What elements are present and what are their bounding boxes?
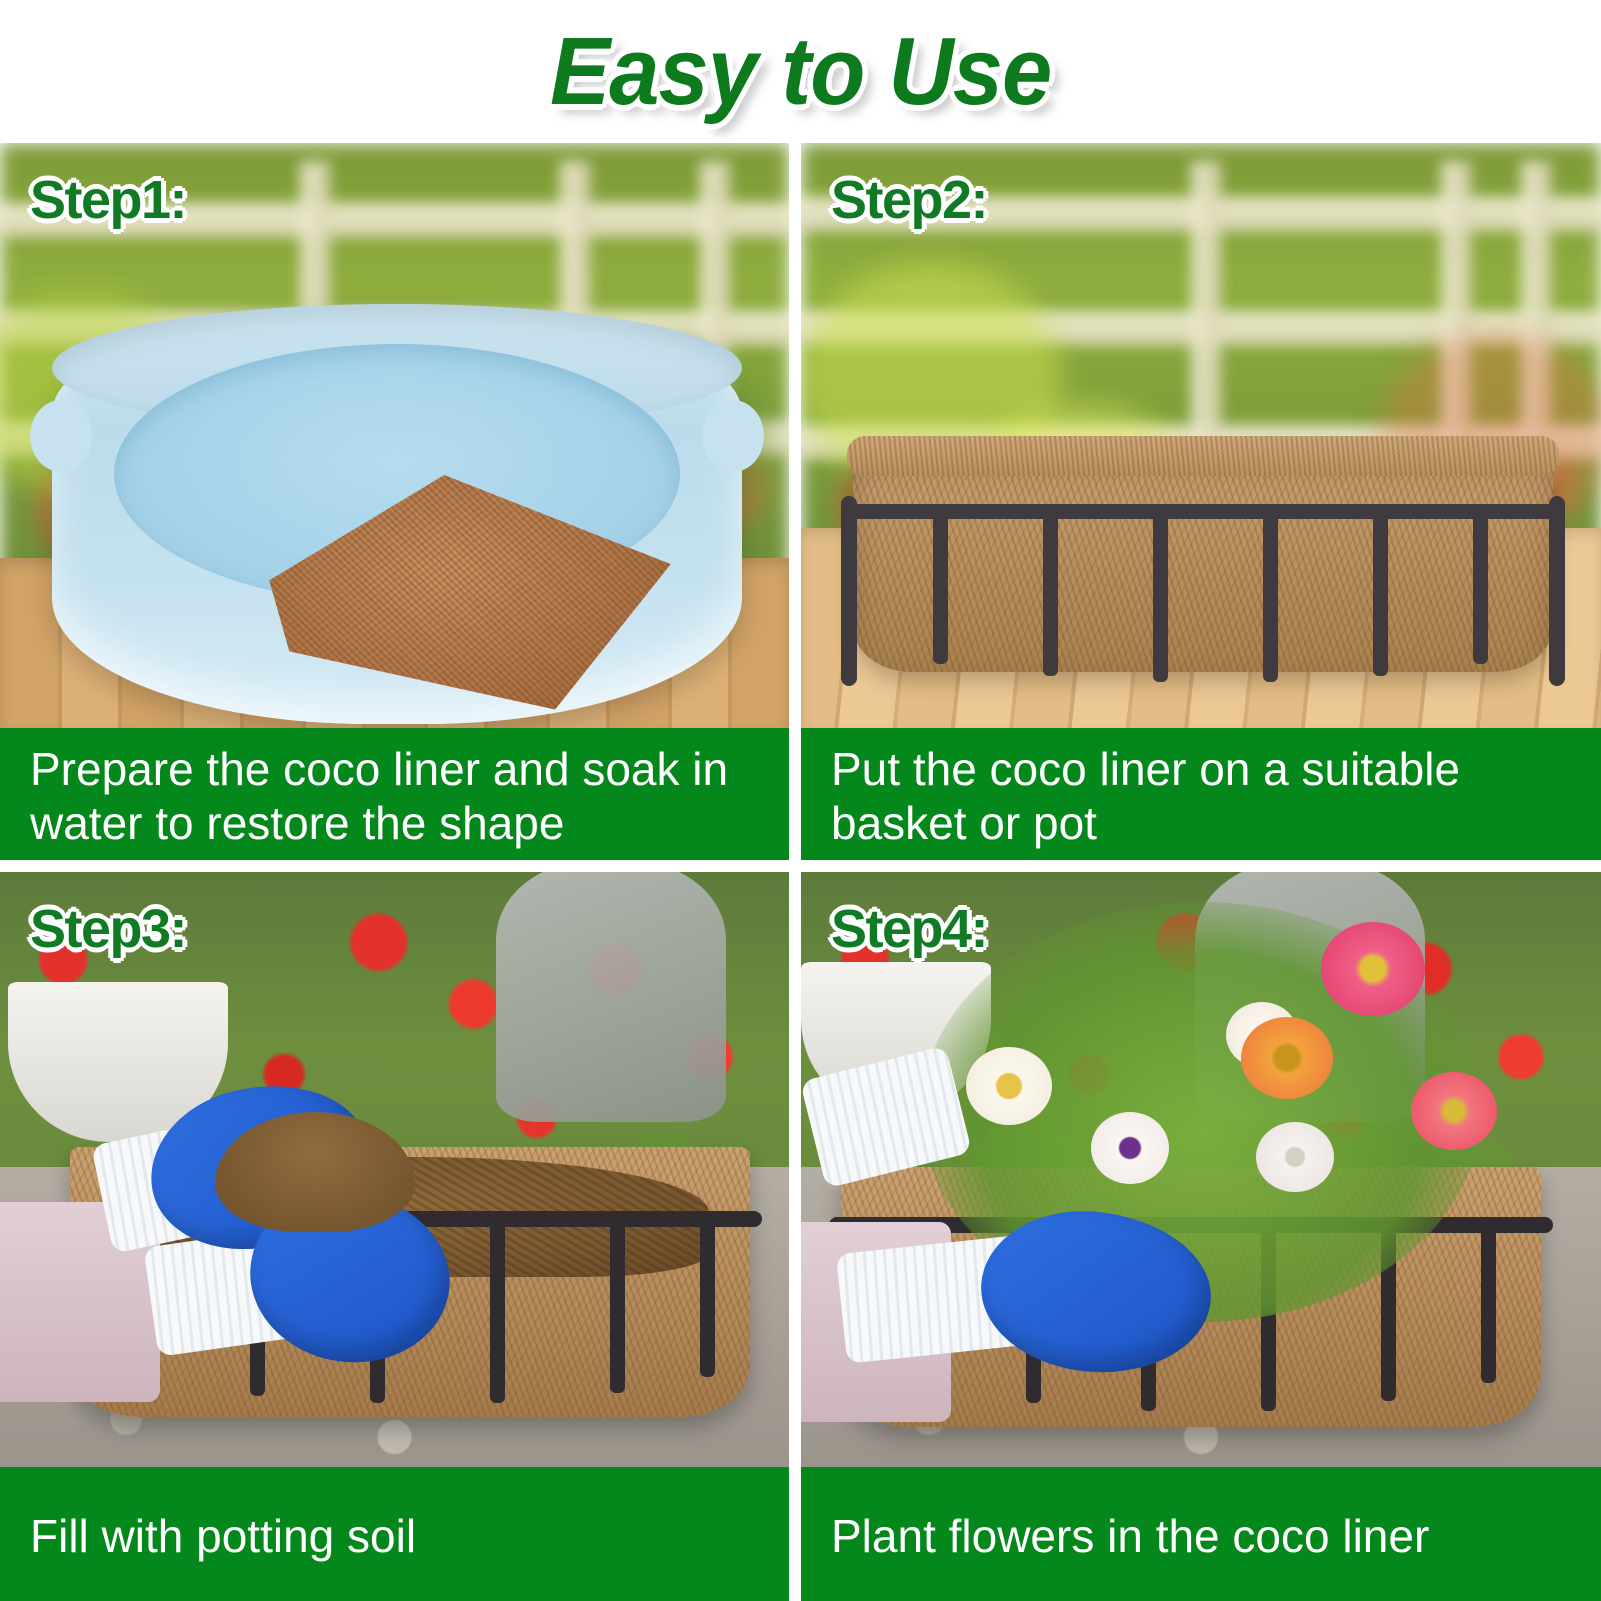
blue-basin: [52, 304, 742, 724]
title-bar: Easy to Use: [0, 0, 1601, 143]
frame-rib: [1481, 1217, 1496, 1383]
petunia-pink: [1321, 922, 1425, 1016]
step-4-photo: Step4:: [801, 872, 1601, 1467]
petunia-white: [1091, 1112, 1169, 1184]
step-2-photo: Step2:: [801, 143, 1601, 728]
step-3-panel: Step3: Fill with potting soil: [0, 872, 789, 1601]
metal-trough-basket: [853, 452, 1553, 672]
frame-side-right: [1549, 496, 1565, 686]
step-3-label: Step3:: [30, 898, 186, 960]
frame-side-left: [841, 496, 857, 686]
step-4-caption: Plant flowers in the coco liner: [801, 1467, 1601, 1601]
stone-ornament: [496, 872, 726, 1122]
page-title: Easy to Use: [550, 17, 1051, 127]
frame-rib: [933, 504, 948, 664]
frame-top-bar: [843, 504, 1563, 519]
step-3-photo: Step3:: [0, 872, 789, 1467]
frame-rib: [1043, 504, 1058, 676]
step-1-panel: Step1: Prepare the coco liner and soak i…: [0, 143, 789, 860]
basin-handle: [30, 400, 92, 472]
petunia-orange: [1241, 1017, 1333, 1099]
petunia-white: [966, 1047, 1052, 1125]
liner-rim: [847, 436, 1559, 476]
step-2-label: Step2:: [831, 169, 987, 231]
step-2-caption: Put the coco liner on a suitable basket …: [801, 728, 1601, 860]
frame-rib: [490, 1211, 505, 1403]
basin-handle: [702, 400, 764, 472]
step-1-photo: Step1:: [0, 143, 789, 728]
frame-rib: [1473, 504, 1488, 664]
easy-to-use-infographic: Easy to Use: [0, 0, 1601, 1601]
frame-rib: [610, 1211, 625, 1393]
frame-rib: [1373, 504, 1388, 676]
step-1-label: Step1:: [30, 169, 186, 231]
step-2-panel: Step2: Put the coco liner on a suitable …: [801, 143, 1601, 860]
frame-rib: [1153, 504, 1168, 682]
step-4-label: Step4:: [831, 898, 987, 960]
steps-grid: Step1: Prepare the coco liner and soak i…: [0, 143, 1601, 1601]
frame-rib: [700, 1211, 715, 1377]
frame-rib: [1263, 504, 1278, 682]
step-3-caption: Fill with potting soil: [0, 1467, 789, 1601]
step-4-panel: Step4: Plant flowers in the coco liner: [801, 872, 1601, 1601]
step-1-caption: Prepare the coco liner and soak in water…: [0, 728, 789, 860]
petunia-white: [1256, 1122, 1334, 1192]
petunia-pink: [1411, 1072, 1497, 1150]
coco-liner: [853, 452, 1553, 672]
